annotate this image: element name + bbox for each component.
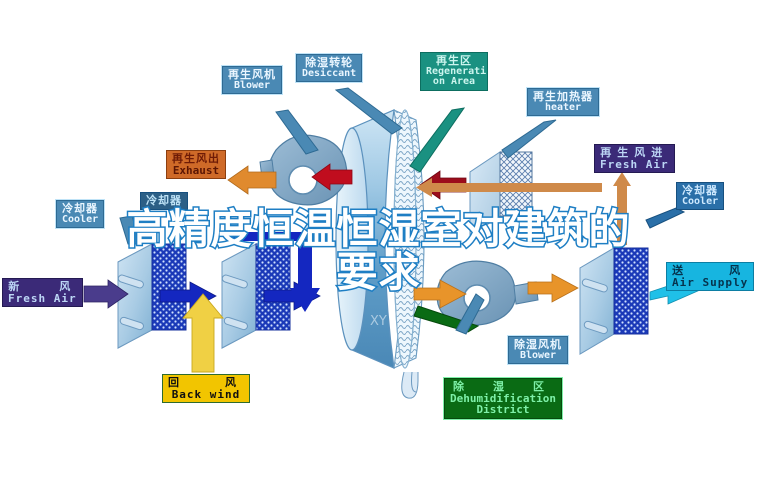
label-regeneration-area[interactable]: 再生区 Regenerati on Area xyxy=(420,52,488,91)
label-cn: 冷却器 xyxy=(146,195,182,207)
label-cn: 除 湿 区 xyxy=(450,381,556,393)
label-dehumidification-district[interactable]: 除 湿 区 Dehumidification District xyxy=(444,378,562,419)
label-regeneration-air-inlet[interactable]: 再生风进 Fresh Air xyxy=(594,144,675,173)
label-cn: 新 风 xyxy=(8,281,77,293)
label-cn: 冷却器 xyxy=(62,203,98,215)
label-cooler-left[interactable]: 冷却器 Cooler xyxy=(56,200,104,228)
label-en-line2: on Area xyxy=(426,77,482,88)
label-cn: 回 风 xyxy=(168,377,244,389)
label-regeneration-blower[interactable]: 再生风机 Blower xyxy=(222,66,282,94)
diagram-canvas: XY xyxy=(0,0,757,488)
label-air-supply[interactable]: 送 风 Air Supply xyxy=(666,262,754,291)
label-cn: 再生风进 xyxy=(600,147,669,159)
label-en: Blower xyxy=(514,351,562,362)
label-desiccant-wheel[interactable]: 除湿转轮 Desiccant xyxy=(296,54,362,82)
label-exhaust[interactable]: 再生风出 Exhaust xyxy=(166,150,226,179)
label-en: Fresh Air xyxy=(8,293,77,305)
label-en: Blower xyxy=(228,81,276,92)
label-en: Back wind xyxy=(168,389,244,401)
label-en: Fresh Air xyxy=(600,159,669,171)
label-cn: 再生风出 xyxy=(172,153,220,165)
label-dehumidification-blower[interactable]: 除湿风机 Blower xyxy=(508,336,568,364)
label-cooler-mid[interactable]: 冷却器 xyxy=(140,192,188,210)
label-en: heater xyxy=(533,103,593,114)
label-en: Exhaust xyxy=(172,165,220,177)
label-regeneration-heater[interactable]: 再生加热器 heater xyxy=(527,88,599,116)
label-cn: 再生加热器 xyxy=(533,91,593,103)
label-cn: 再生风机 xyxy=(228,69,276,81)
label-cn: 送 风 xyxy=(672,265,748,277)
wheel-watermark: XY xyxy=(370,314,387,329)
label-fresh-air-inlet[interactable]: 新 风 Fresh Air xyxy=(2,278,83,307)
label-en: Cooler xyxy=(62,215,98,226)
desiccant-wheel: XY xyxy=(336,110,424,398)
label-en: Cooler xyxy=(682,197,718,208)
label-cn: 冷却器 xyxy=(682,185,718,197)
label-en-line2: District xyxy=(450,404,556,416)
airflow-schematic-svg: XY xyxy=(0,0,757,488)
label-en: Desiccant xyxy=(302,69,356,80)
cooler-unit-right xyxy=(580,248,648,354)
label-cn: 再生区 xyxy=(426,55,482,67)
label-en: Air Supply xyxy=(672,277,748,289)
label-cooler-right[interactable]: 冷却器 Cooler xyxy=(676,182,724,210)
regeneration-heater-unit xyxy=(470,152,532,236)
arrow-back-wind-up xyxy=(183,294,223,372)
label-cn: 除湿转轮 xyxy=(302,57,356,69)
label-back-wind[interactable]: 回 风 Back wind xyxy=(162,374,250,403)
label-cn: 除湿风机 xyxy=(514,339,562,351)
